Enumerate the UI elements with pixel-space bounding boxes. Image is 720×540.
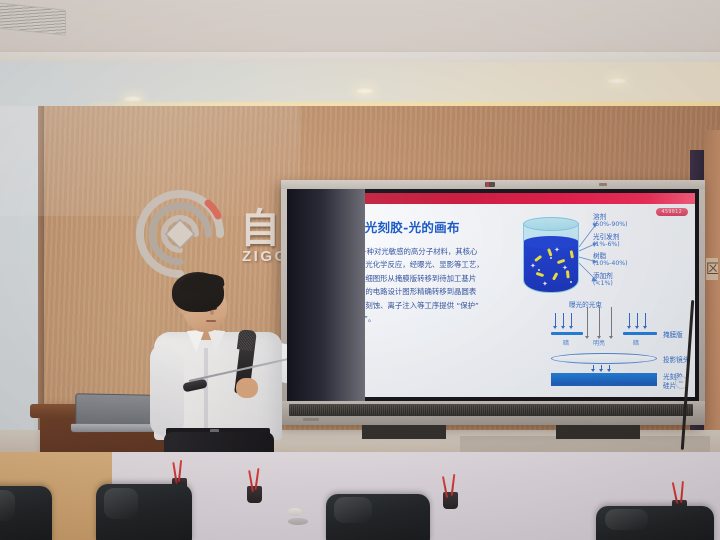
light-ray-icon [645,313,646,327]
lithography-schematic: 曝光的光束 [549,301,695,393]
light-ray-arrowhead-icon [609,336,613,339]
slide-body-text-run: 将所需要的微细图形从掩膜版转移到待加工基片 [321,272,476,285]
slide-top-band [291,193,695,204]
paper-cup [288,508,302,516]
composition-percent: (50%-90%) [593,221,685,229]
display-top-bezel [281,180,705,189]
light-ray-arrowhead-icon [561,326,565,329]
display-stand-leg [362,425,446,439]
slide-body-line: 或 “刻蚀窗口”。 [315,312,513,325]
slide-body-line: 作用是，利用光化学反应，经曝光、显影等工艺， [315,258,513,271]
slide-body-line: 面，为后续的刻蚀、离子注入等工序提供 “保护” [315,299,513,312]
slide-body-text-run: 作用是，利用光化学反应，经曝光、显影等工艺， [321,258,484,271]
shirt-placket [204,348,208,438]
light-ray-arrowhead-icon [607,369,611,372]
composition-name: 溶剂 [593,213,685,221]
composition-name: 树脂 [593,252,685,260]
composition-item: 光引发剂 (1%-6%) [593,233,685,249]
sparkle-icon: ✦ [562,265,568,272]
microphone-grille-icon [237,329,254,351]
jar-rim [523,217,579,231]
light-ray-icon [555,313,556,327]
laptop-keyboard-base[interactable] [71,424,158,432]
light-ray-icon [611,307,612,337]
light-ray-icon [563,313,564,327]
presenter-hand-holding-microphone [236,378,258,398]
chair[interactable] [596,506,714,540]
downlight-icon [608,78,626,84]
chair[interactable] [326,494,430,540]
wall-sign-glyph: 区 [706,258,718,280]
chair[interactable] [0,486,52,540]
downlight-icon [356,88,374,94]
slide-body-text: ➢ 光刻胶： 是一种对光敏感的高分子材料，其核心 作用是，利用光化学反应，经曝光… [315,245,513,325]
composition-name: 添加剂 [593,272,685,280]
chair[interactable] [96,484,192,540]
mask-plate-segment [623,332,657,335]
power-led-icon [486,182,489,187]
photoresist-layer [551,373,657,382]
slide-body-text-run: 上将掩膜版上的电路设计图形精确转移到晶圆表 [321,285,476,298]
interactive-display-panel[interactable]: 459012 3.2 光刻胶-光的画布 ➢ 光刻胶： 是一种对光敏感的高分子材料… [281,180,705,425]
mask-plate-segment [551,332,583,335]
beam-caption-label: 曝光的光束 [569,299,602,309]
presenter-mouth [206,320,216,322]
jar-liquid-surface [523,236,579,249]
light-ray-arrowhead-icon [585,336,589,339]
projection-lens-icon [551,353,657,364]
composition-item: 树脂 (10%-40%) [593,252,685,268]
chair-highlight [605,509,647,531]
sparkle-icon: ✦ [554,247,560,254]
bright-zone-label: 明亮 [593,338,605,347]
dark-zone-label: 暗 [563,338,569,347]
light-ray-icon [587,307,588,337]
presentation-slide: 459012 3.2 光刻胶-光的画布 ➢ 光刻胶： 是一种对光敏感的高分子材料… [291,193,695,397]
composition-percent: (<1%) [593,280,685,288]
projection-lens-label: 投影镜头 [663,354,689,364]
arrow-bullet-icon: ➢ [315,245,321,258]
ceiling [0,0,720,60]
wafer-layer [551,382,657,386]
sparkle-icon: ✦ [530,263,536,270]
meeting-room-scene: 区 自 ZIGON 45 [0,0,720,540]
display-brand-mark [599,183,607,186]
composition-percent: (1%-6%) [593,241,685,249]
slide-title-row: 3.2 光刻胶-光的画布 [313,217,460,236]
presenter-left-arm [150,344,184,436]
display-stand-leg [556,425,640,439]
concentric-arc-diamond-logo-icon [132,186,228,282]
light-ray-icon [637,313,638,327]
light-ray-arrowhead-icon [599,369,603,372]
light-ray-arrowhead-icon [643,326,647,329]
hexagon-bullet-icon [313,219,330,234]
mask-plate-label: 掩膜版 [663,329,683,339]
slide-body-text-run: 是一种对光敏感的高分子材料，其核心 [352,245,478,258]
composition-label-list: 溶剂 (50%-90%) 光引发剂 (1%-6%) 树脂 (10%-40%) 添… [593,213,685,291]
slide-body-keyword: 光刻胶： [322,245,352,258]
dark-zone-label: 暗 [633,338,639,347]
slide-body-text-run: 面，为后续的刻蚀、离子注入等工序提供 “保护” [321,299,479,312]
slide-title: 3.2 光刻胶-光的画布 [337,217,460,236]
right-wall-panel [704,130,720,440]
light-ray-icon [599,307,600,337]
composition-item: 添加剂 (<1%) [593,272,685,288]
chair-highlight [334,497,371,523]
slide-body-line: 上将掩膜版上的电路设计图形精确转移到晶圆表 [315,285,513,298]
composition-percent: (10%-40%) [593,260,685,268]
chair-highlight [0,490,15,521]
light-ray-arrowhead-icon [569,326,573,329]
saucer [288,518,308,525]
composition-name: 光引发剂 [593,233,685,241]
light-ray-arrowhead-icon [627,326,631,329]
venue-logo-chinese: 自 [240,196,282,254]
laptop-screen[interactable] [75,393,151,427]
light-ray-icon [629,313,630,327]
light-ray-arrowhead-icon [553,326,557,329]
photoresist-jar-graphic: ✦ ✦ ✦ ✦ [519,215,585,301]
light-ray-icon [571,313,572,327]
chair-highlight [104,488,139,519]
light-ray-arrowhead-icon [635,326,639,329]
light-ray-arrowhead-icon [591,369,595,372]
display-soundbar [289,404,693,416]
composition-item: 溶剂 (50%-90%) [593,213,685,229]
display-screen[interactable]: 459012 3.2 光刻胶-光的画布 ➢ 光刻胶： 是一种对光敏感的高分子材料… [287,189,699,401]
sparkle-icon: ✦ [542,281,548,288]
slide-body-line: 将所需要的微细图形从掩膜版转移到待加工基片 [315,272,513,285]
slide-body-line: ➢ 光刻胶： 是一种对光敏感的高分子材料，其核心 [315,245,513,258]
jar-body: ✦ ✦ ✦ ✦ [523,223,579,293]
